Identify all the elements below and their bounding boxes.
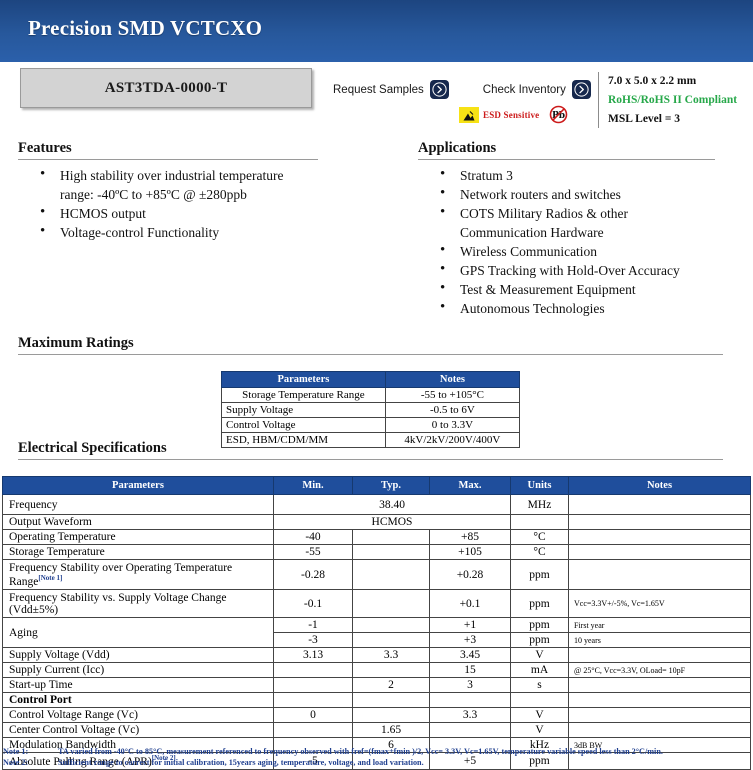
cell-min: 0 [274,708,353,723]
table-row: Start-up Time 2 3 s [3,678,751,693]
cell-units: V [511,648,569,663]
cell-max: +85 [430,530,511,545]
cell-typ: 3.3 [353,648,430,663]
package-dimensions: 7.0 x 5.0 x 2.2 mm [608,72,737,91]
list-item: GPS Tracking with Hold-Over Accuracy [440,261,715,280]
cell-max: 15 [430,663,511,678]
request-samples-label: Request Samples [333,84,424,96]
cell-parameter: Storage Temperature [3,545,274,560]
cell-parameter: Operating Temperature [3,530,274,545]
cell-max [430,693,511,708]
cell-typ [353,633,430,648]
compliance-icons: ESD Sensitive Pb [459,104,569,125]
cell-min [274,663,353,678]
cell-units: ppm [511,633,569,648]
cell-min: 3.13 [274,648,353,663]
table-row: Center Control Voltage (Vc) 1.65 V [3,723,751,738]
maximum-ratings-table: Parameters Notes Storage Temperature Ran… [221,371,520,448]
cell-note: -55 to +105°C [385,388,519,403]
cell-min: -40 [274,530,353,545]
table-row: Storage Temperature Range -55 to +105°C [222,388,520,403]
applications-title: Applications [418,140,715,157]
column-header-parameters: Parameters [3,477,274,495]
table-row: Supply Voltage (Vdd) 3.13 3.3 3.45 V [3,648,751,663]
cell-notes [569,693,751,708]
cell-min [274,723,353,738]
cell-units [511,515,569,530]
footnote-row: Note 2: Sufficient range to correct for … [3,757,751,768]
table-section-row: Control Port [3,693,751,708]
cell-max: +1 [430,618,511,633]
cell-units: mA [511,663,569,678]
datasheet-page: Precision SMD VCTCXO AST3TDA-0000-T Requ… [0,0,753,767]
cell-max: 3 [430,678,511,693]
cell-typ [353,663,430,678]
column-header-min: Min. [274,477,353,495]
list-item: Network routers and switches [440,185,715,204]
cell-typ [353,545,430,560]
cell-parameter: Storage Temperature Range [222,388,386,403]
page-title: Precision SMD VCTCXO [28,16,262,41]
cell-units: ppm [511,618,569,633]
cell-typ: 1.65 [353,723,430,738]
footnote-row: Note 1: TA varied from -40°C to 85°C, me… [3,746,751,757]
applications-section: Applications Stratum 3 Network routers a… [418,140,715,318]
cell-units: V [511,723,569,738]
footnote-marker: [Note 1] [38,574,62,582]
cell-typ [353,530,430,545]
list-item: Wireless Communication [440,242,715,261]
cell-parameter: Frequency Stability vs. Supply Voltage C… [3,590,274,618]
msl-level: MSL Level = 3 [608,110,737,129]
cell-notes: First year [569,618,751,633]
cell-min [274,693,353,708]
esd-sensitive-label: ESD Sensitive [483,110,539,120]
cell-typ [353,560,430,590]
cell-min: -0.28 [274,560,353,590]
cell-parameter: Control Voltage [222,418,386,433]
table-header-row: Parameters Min. Typ. Max. Units Notes [3,477,751,495]
cell-notes [569,560,751,590]
header-divider [598,72,599,128]
list-item: Autonomous Technologies [440,299,715,318]
cell-max: +3 [430,633,511,648]
table-row: Control Voltage Range (Vc) 0 3.3 V [3,708,751,723]
cell-parameter: Frequency [3,495,274,515]
cell-units [511,693,569,708]
page-banner: Precision SMD VCTCXO [0,0,753,62]
chevron-right-icon[interactable] [572,80,591,99]
electrical-specifications-title: Electrical Specifications [18,440,723,457]
cell-notes: Vcc=3.3V+/-5%, Vc=1.65V [569,590,751,618]
lead-free-icon: Pb [548,104,569,125]
cell-typ [353,693,430,708]
table-row: Output Waveform HCMOS [3,515,751,530]
check-inventory-label: Check Inventory [483,84,566,96]
cell-parameter: Supply Current (Icc) [3,663,274,678]
cell-notes [569,708,751,723]
cell-min: -55 [274,545,353,560]
electrical-specifications-rule [18,459,723,460]
cell-parameter: Start-up Time [3,678,274,693]
cell-parameter: Aging [3,618,274,648]
cell-units: V [511,708,569,723]
cell-notes [569,515,751,530]
table-row: Operating Temperature -40 +85 °C [3,530,751,545]
list-item: COTS Military Radios & other Communicati… [440,204,715,242]
list-item: Stratum 3 [440,166,715,185]
table-row: Frequency Stability vs. Supply Voltage C… [3,590,751,618]
cell-max: 3.45 [430,648,511,663]
cell-parameter: Supply Voltage [222,403,386,418]
cell-notes: 10 years [569,633,751,648]
cell-typ: 38.40 [274,495,511,515]
column-header-units: Units [511,477,569,495]
cell-units: s [511,678,569,693]
cell-typ: 2 [353,678,430,693]
cell-typ [353,618,430,633]
cell-parameter: Control Voltage Range (Vc) [3,708,274,723]
cell-parameter: Output Waveform [3,515,274,530]
cell-note: -0.5 to 6V [385,403,519,418]
cell-min: -1 [274,618,353,633]
cell-notes [569,530,751,545]
applications-rule [418,159,715,160]
column-header-notes: Notes [569,477,751,495]
column-header-typ: Typ. [353,477,430,495]
part-number-box: AST3TDA-0000-T [20,68,312,108]
cell-min: -3 [274,633,353,648]
cell-max: +105 [430,545,511,560]
column-header-parameters: Parameters [222,372,386,388]
cell-notes [569,648,751,663]
table-header-row: Parameters Notes [222,372,520,388]
cell-section-label: Control Port [3,693,274,708]
maximum-ratings-rule [18,354,723,355]
features-section: Features High stability over industrial … [18,140,318,242]
list-item: Voltage-control Functionality [40,223,318,242]
cell-max: 3.3 [430,708,511,723]
footnotes: Note 1: TA varied from -40°C to 85°C, me… [3,746,751,768]
cell-note: 0 to 3.3V [385,418,519,433]
applications-list: Stratum 3 Network routers and switches C… [418,166,715,318]
request-samples-button[interactable]: Request Samples [333,80,449,99]
table-row: Frequency 38.40 MHz [3,495,751,515]
list-item: HCMOS output [40,204,318,223]
cell-min: -0.1 [274,590,353,618]
footnote-label: Note 1: [3,746,58,757]
table-row: Control Voltage 0 to 3.3V [222,418,520,433]
package-info-block: 7.0 x 5.0 x 2.2 mm RoHS/RoHS II Complian… [608,72,737,129]
cell-min [274,678,353,693]
table-row: Supply Current (Icc) 15 mA @ 25°C, Vcc=3… [3,663,751,678]
cell-typ [353,590,430,618]
column-header-max: Max. [430,477,511,495]
esd-warning-icon [459,107,479,123]
table-row: Supply Voltage -0.5 to 6V [222,403,520,418]
maximum-ratings-title: Maximum Ratings [18,335,723,352]
electrical-specifications-table: Parameters Min. Typ. Max. Units Notes Fr… [2,476,751,770]
header-actions: Request Samples Check Inventory [333,80,591,99]
cell-notes [569,723,751,738]
features-list: High stability over industrial temperatu… [18,166,318,242]
cell-parameter: Center Control Voltage (Vc) [3,723,274,738]
cell-notes [569,545,751,560]
cell-max [430,723,511,738]
list-item: Test & Measurement Equipment [440,280,715,299]
cell-notes [569,495,751,515]
part-number-text: AST3TDA-0000-T [105,80,228,97]
cell-units: ppm [511,560,569,590]
table-row: Frequency Stability over Operating Tempe… [3,560,751,590]
cell-parameter: Supply Voltage (Vdd) [3,648,274,663]
list-item: High stability over industrial temperatu… [40,166,318,204]
cell-typ: HCMOS [274,515,511,530]
cell-units: MHz [511,495,569,515]
footnote-text: Sufficient range to correct for initial … [58,757,751,768]
cell-units: ppm [511,590,569,618]
electrical-specifications-section: Electrical Specifications [18,440,723,460]
table-row: Aging -1 +1 ppm First year [3,618,751,633]
check-inventory-button[interactable]: Check Inventory [483,80,591,99]
column-header-notes: Notes [385,372,519,388]
cell-max: +0.28 [430,560,511,590]
table-row: Storage Temperature -55 +105 °C [3,545,751,560]
cell-units: °C [511,545,569,560]
cell-units: °C [511,530,569,545]
maximum-ratings-section: Maximum Ratings [18,335,723,355]
features-title: Features [18,140,318,157]
rohs-compliance: RoHS/RoHS II Compliant [608,91,737,110]
footnote-label: Note 2: [3,757,58,768]
footnote-text: TA varied from -40°C to 85°C, measuremen… [58,746,751,757]
cell-notes: @ 25°C, Vcc=3.3V, OLoad= 10pF [569,663,751,678]
cell-typ [353,708,430,723]
cell-max: +0.1 [430,590,511,618]
cell-parameter: Frequency Stability over Operating Tempe… [3,560,274,590]
features-rule [18,159,318,160]
chevron-right-icon[interactable] [430,80,449,99]
cell-notes [569,678,751,693]
